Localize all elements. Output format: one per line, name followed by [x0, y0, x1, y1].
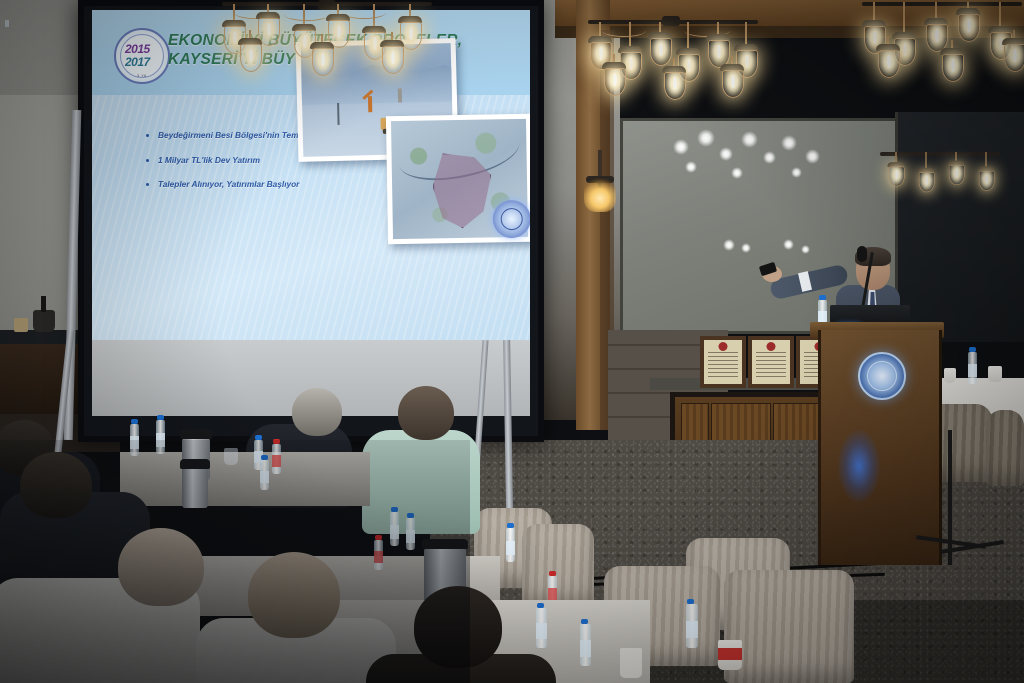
bottle-label: [536, 623, 547, 639]
projection-screen: 2015 2017 3. YIL EKONOMİ'Yİ BÜYÜTECEK PR…: [78, 0, 544, 442]
bottle-cap: [255, 435, 262, 440]
audience-head: [398, 386, 454, 440]
aerial-parcel-map-photo: [386, 114, 530, 245]
bottle-cap: [687, 599, 694, 604]
light-reflection: [697, 129, 715, 147]
water-bottle: [506, 528, 515, 562]
banquet-table: [120, 452, 370, 506]
chandelier-bar: [862, 2, 1022, 6]
light-reflection: [783, 239, 794, 250]
emblem-year-top: 2015: [125, 42, 150, 56]
bottle-cap: [507, 523, 514, 528]
water-bottle: [406, 518, 415, 550]
bottle-cap: [375, 535, 382, 540]
audience-head: [20, 452, 92, 518]
dark-window-right: [895, 112, 1024, 342]
cup-band: [718, 648, 742, 660]
thermos-carafe: [182, 468, 208, 508]
chandelier-wire: [602, 24, 646, 37]
water-bottle: [968, 352, 977, 384]
audience-torso-mint-shirt: [362, 430, 480, 534]
light-reflection: [731, 167, 743, 179]
light-reflection: [805, 149, 820, 164]
certificate-text-lines: [708, 352, 738, 378]
bottle-label: [390, 525, 399, 539]
audience-head: [292, 388, 342, 436]
municipal-seal-icon: [492, 200, 530, 239]
emblem-year-bottom: 2017: [125, 55, 150, 69]
framed-certificate: [748, 336, 794, 388]
framed-certificate: [700, 336, 746, 388]
table-glass: [988, 366, 1002, 382]
light-reflection: [673, 139, 689, 155]
soft-drink-bottle: [272, 444, 281, 474]
light-reflection: [781, 135, 797, 151]
bottle-cap: [819, 295, 826, 300]
bottle-label: [260, 471, 269, 483]
bottle-label: [968, 364, 977, 377]
water-bottle: [390, 512, 399, 546]
chandelier-hub: [662, 16, 680, 26]
audience-head: [248, 552, 340, 638]
paper-cup: [718, 640, 742, 670]
bottle-label: [130, 436, 139, 449]
water-bottle: [260, 460, 269, 490]
bottle-cap: [969, 347, 976, 352]
thermos-lid: [180, 459, 210, 469]
light-reflection: [791, 167, 802, 178]
water-bottle: [156, 420, 165, 454]
bottle-cap: [131, 419, 138, 424]
bottle-label: [506, 541, 515, 555]
chandelier-wire: [284, 8, 330, 21]
mic-tripod-pole: [948, 430, 952, 565]
bottle-cap: [581, 619, 588, 624]
machinery-icon: [398, 88, 402, 102]
paper-cup: [620, 648, 642, 678]
bottle-cap: [549, 571, 556, 576]
emblem-footer-text: 3. YIL: [116, 73, 168, 78]
striped-chair: [522, 524, 594, 608]
bottle-cap: [157, 415, 164, 420]
bottle-cap: [391, 507, 398, 512]
excavator-arm-icon: [368, 96, 372, 112]
bottle-label: [818, 311, 827, 322]
podium-seal-ring: [867, 361, 897, 391]
certificate-text-lines: [756, 352, 786, 378]
water-bottle: [686, 604, 698, 648]
bottle-cap: [261, 455, 268, 460]
striped-chair: [724, 570, 854, 683]
water-bottle: [580, 624, 591, 666]
light-reflection: [763, 151, 776, 164]
utility-pole: [337, 103, 340, 125]
seal-inner-ring: [501, 208, 523, 230]
counter-object-carafe: [33, 310, 55, 332]
striped-chair: [986, 410, 1024, 486]
thermos-lid: [180, 429, 212, 439]
table-glass: [224, 448, 238, 465]
water-bottle: [536, 608, 547, 648]
bottle-label: [406, 530, 415, 543]
light-reflection: [741, 243, 751, 253]
table-glass: [944, 368, 956, 383]
water-bottle: [130, 424, 139, 456]
light-reflection: [685, 161, 697, 173]
projected-slide: 2015 2017 3. YIL EKONOMİ'Yİ BÜYÜTECEK PR…: [92, 10, 530, 340]
podium-seal-icon: [858, 352, 906, 400]
audience-head: [118, 528, 204, 606]
bottle-label: [156, 433, 165, 447]
bottle-label: [374, 551, 383, 563]
soft-drink-bottle: [374, 540, 383, 570]
light-reflection: [723, 239, 735, 251]
bottle-label: [580, 640, 591, 657]
presentation-hall-photograph: 2015 2017 3. YIL EKONOMİ'Yİ BÜYÜTECEK PR…: [0, 0, 1024, 683]
light-reflection: [741, 131, 758, 148]
thermos-lid: [422, 539, 468, 549]
chamber-emblem-icon: 2015 2017 3. YIL: [114, 28, 170, 84]
bottle-cap: [273, 439, 280, 444]
microphone-head-icon: [857, 246, 867, 262]
bottle-label: [686, 621, 698, 639]
slide-bullet-item: Talepler Alınıyor, Yatırımlar Başlıyor: [158, 177, 338, 192]
light-reflection: [719, 147, 733, 161]
podium-blue-light-glow: [838, 430, 880, 502]
certificate-seal-icon: [767, 342, 776, 351]
audience-head: [414, 586, 502, 668]
bottle-cap: [407, 513, 414, 518]
counter-object-cup: [14, 318, 28, 332]
chandelier-bar: [880, 152, 1000, 156]
bottle-label: [272, 455, 281, 467]
wall-sconce-lamp-icon: [584, 178, 616, 212]
certificate-seal-icon: [719, 342, 728, 351]
bottle-cap: [537, 603, 544, 608]
light-reflection: [801, 245, 810, 254]
